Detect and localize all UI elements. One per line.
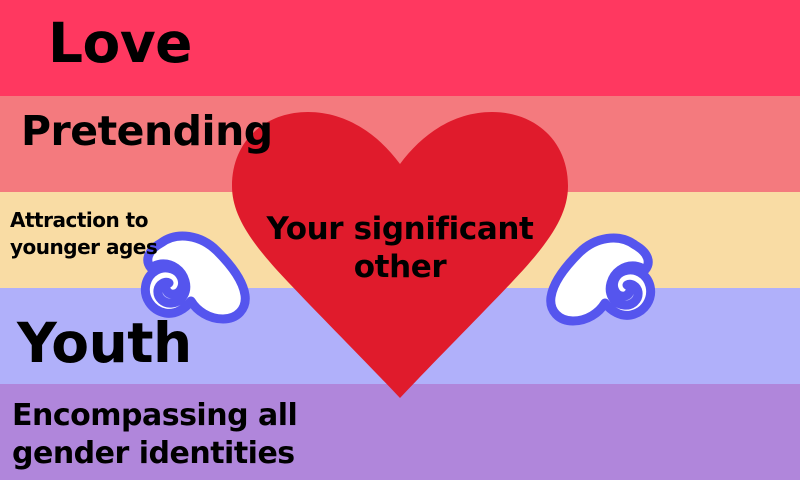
stripe-label-youth: Youth: [17, 314, 192, 372]
stripe-label-attraction: Attraction to younger ages: [10, 207, 157, 261]
flag-canvas: Love Pretending Attraction to younger ag…: [0, 0, 800, 480]
stripe-label-pretending: Pretending: [21, 110, 273, 153]
heart-label: Your significant other: [228, 211, 572, 287]
stripe-label-love: Love: [48, 14, 192, 72]
stripe-label-gender: Encompassing all gender identities: [12, 397, 297, 472]
